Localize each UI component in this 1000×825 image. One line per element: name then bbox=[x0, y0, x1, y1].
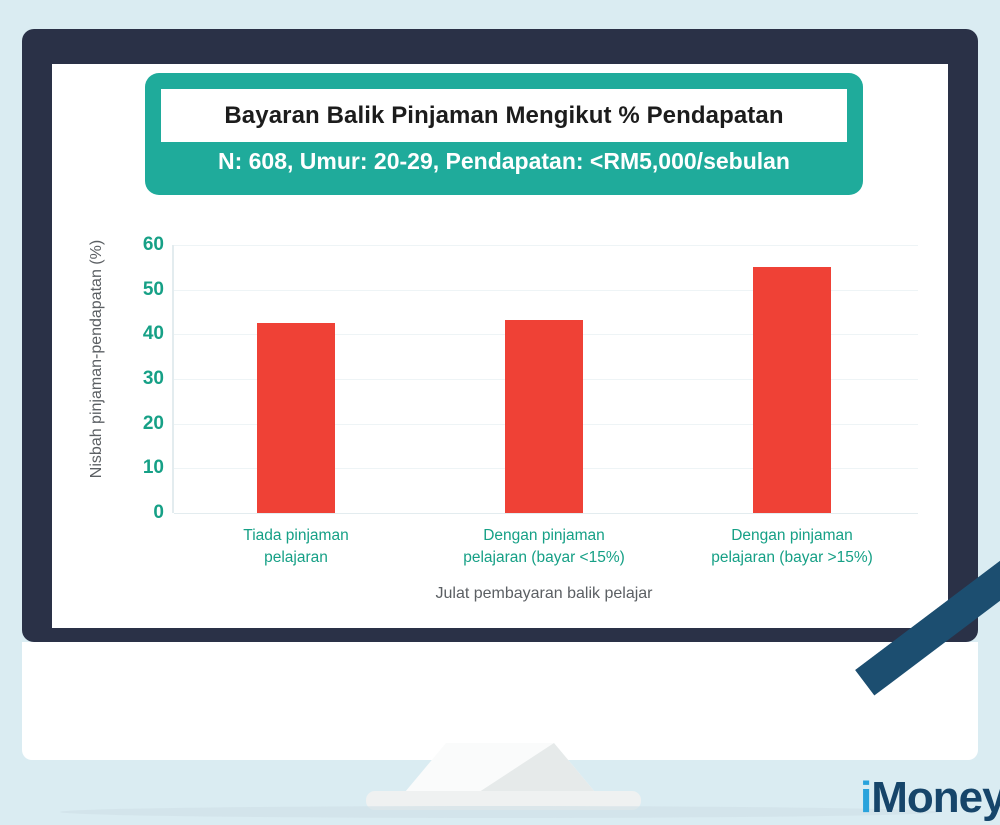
chart-title-block: Bayaran Balik Pinjaman Mengikut % Pendap… bbox=[145, 73, 863, 195]
bar-series bbox=[172, 245, 916, 513]
x-axis-tick-label-line: pelajaran (bayar <15%) bbox=[420, 547, 668, 569]
chart-title-box: Bayaran Balik Pinjaman Mengikut % Pendap… bbox=[161, 89, 847, 142]
y-axis-tick-labels: 0102030405060 bbox=[124, 234, 164, 524]
y-axis-title: Nisbah pinjaman-pendapatan (%) bbox=[88, 194, 106, 524]
y-axis-tick-label: 40 bbox=[124, 323, 164, 345]
plot-wrapper: 0102030405060 bbox=[172, 245, 916, 513]
logo-name: Money bbox=[871, 773, 1000, 822]
logo-prefix: i bbox=[860, 773, 871, 822]
y-axis-tick-label: 20 bbox=[124, 413, 164, 435]
infographic-canvas: Bayaran Balik Pinjaman Mengikut % Pendap… bbox=[0, 0, 1000, 825]
bar bbox=[753, 267, 831, 513]
chart-subtitle: N: 608, Umur: 20-29, Pendapatan: <RM5,00… bbox=[145, 148, 863, 175]
y-axis-tick-label: 30 bbox=[124, 368, 164, 390]
bar bbox=[257, 323, 335, 513]
x-axis-tick-label-line: Dengan pinjaman bbox=[420, 525, 668, 547]
y-axis-tick-label: 10 bbox=[124, 457, 164, 479]
monitor-lower-panel bbox=[22, 642, 978, 760]
x-axis-tick-labels: Tiada pinjamanpelajaranDengan pinjamanpe… bbox=[172, 525, 916, 575]
bar bbox=[505, 320, 583, 513]
bar-chart: Nisbah pinjaman-pendapatan (%) 010203040… bbox=[52, 200, 948, 628]
x-axis-tick-label-line: Dengan pinjaman bbox=[668, 525, 916, 547]
x-axis-tick-label: Tiada pinjamanpelajaran bbox=[172, 525, 420, 569]
x-axis-tick-label-line: pelajaran bbox=[172, 547, 420, 569]
y-axis-tick-label: 50 bbox=[124, 279, 164, 301]
monitor-shadow bbox=[60, 806, 940, 818]
logo-wordmark: iMoney bbox=[860, 690, 1000, 825]
x-axis-tick-label: Dengan pinjamanpelajaran (bayar <15%) bbox=[420, 525, 668, 569]
x-axis-tick-label: Dengan pinjamanpelajaran (bayar >15%) bbox=[668, 525, 916, 569]
x-axis-title: Julat pembayaran balik pelajar bbox=[172, 585, 916, 603]
gridline bbox=[174, 513, 918, 514]
y-axis-tick-label: 60 bbox=[124, 234, 164, 256]
x-axis-tick-label-line: Tiada pinjaman bbox=[172, 525, 420, 547]
chart-title: Bayaran Balik Pinjaman Mengikut % Pendap… bbox=[224, 102, 783, 130]
x-axis-tick-label-line: pelajaran (bayar >15%) bbox=[668, 547, 916, 569]
y-axis-tick-label: 0 bbox=[124, 502, 164, 524]
logo-text: iMoney bbox=[860, 775, 1000, 821]
